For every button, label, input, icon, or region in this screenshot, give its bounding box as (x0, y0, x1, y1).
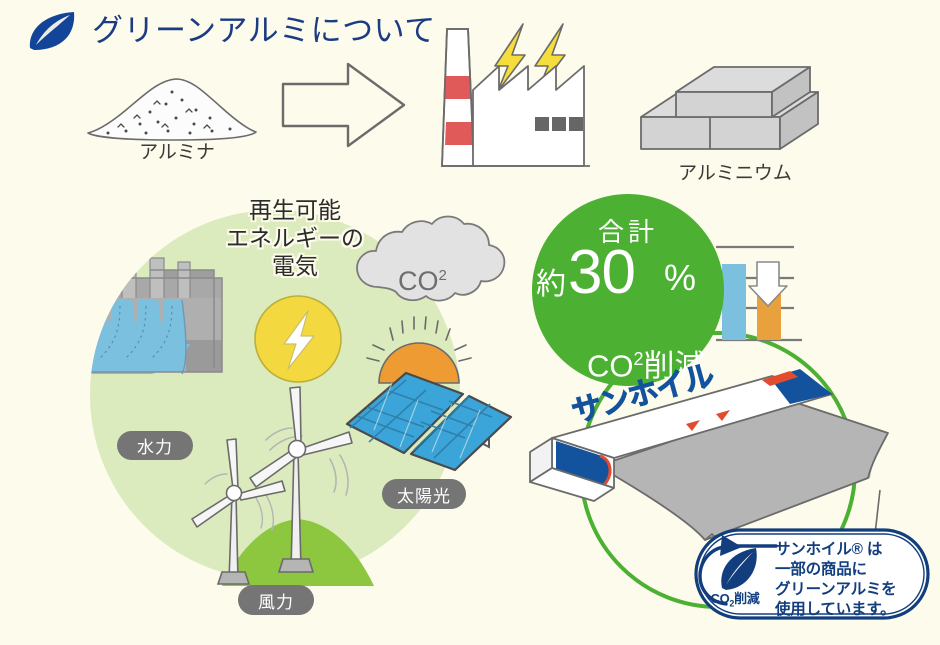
lightning-circle-icon (255, 296, 341, 382)
co2-cloud-label: CO2 (398, 266, 447, 297)
aluminium-caption: アルミニウム (640, 163, 830, 184)
leaf-icon (30, 12, 74, 50)
reduction-approx-prefix: 約 (536, 268, 566, 302)
alumina-caption: アルミナ (112, 142, 242, 163)
label-hydro: 水力 (117, 431, 193, 460)
co2-cloud-text: CO (398, 266, 439, 296)
badge-co2-text: CO (710, 591, 729, 606)
down-arrow-icon (749, 262, 787, 306)
reduction-unit: % (664, 258, 696, 298)
reduction-value: 30 (568, 238, 635, 307)
reduction-co2-superscript: 2 (633, 349, 643, 369)
badge-line: グリーンアルミを (775, 580, 896, 600)
label-wind: 風力 (238, 585, 314, 615)
page-title: グリーンアルミについて (92, 14, 436, 49)
factory-icon (442, 29, 590, 166)
chart-bar-before (722, 264, 746, 340)
factory-window (535, 117, 549, 131)
powder-pile-icon (88, 79, 256, 140)
co2-cloud-superscript: 2 (439, 267, 447, 284)
badge-line: サンホイル® は (775, 540, 896, 560)
right-arrow-icon (283, 64, 404, 146)
badge-line: 使用しています。 (775, 600, 896, 620)
badge-text-block: サンホイル® は 一部の商品に グリーンアルミを 使用しています。 (775, 540, 896, 620)
badge-line: 一部の商品に (775, 560, 896, 580)
label-solar: 太陽光 (382, 479, 466, 509)
badge-co2-label: CO2削減 (698, 588, 772, 609)
hydro-dam-icon (51, 258, 222, 374)
co2-bar-chart (716, 247, 802, 340)
renewable-heading: 再生可能 エネルギーの 電気 (205, 196, 385, 280)
factory-window (552, 117, 566, 131)
infographic-canvas: グリーンアルミについて アルミナ アルミニウム 再生可能 エネルギーの 電気 C… (0, 0, 940, 645)
badge-co2-suffix: 削減 (734, 591, 759, 606)
factory-window (569, 117, 583, 131)
aluminium-ingots-icon (641, 67, 818, 149)
